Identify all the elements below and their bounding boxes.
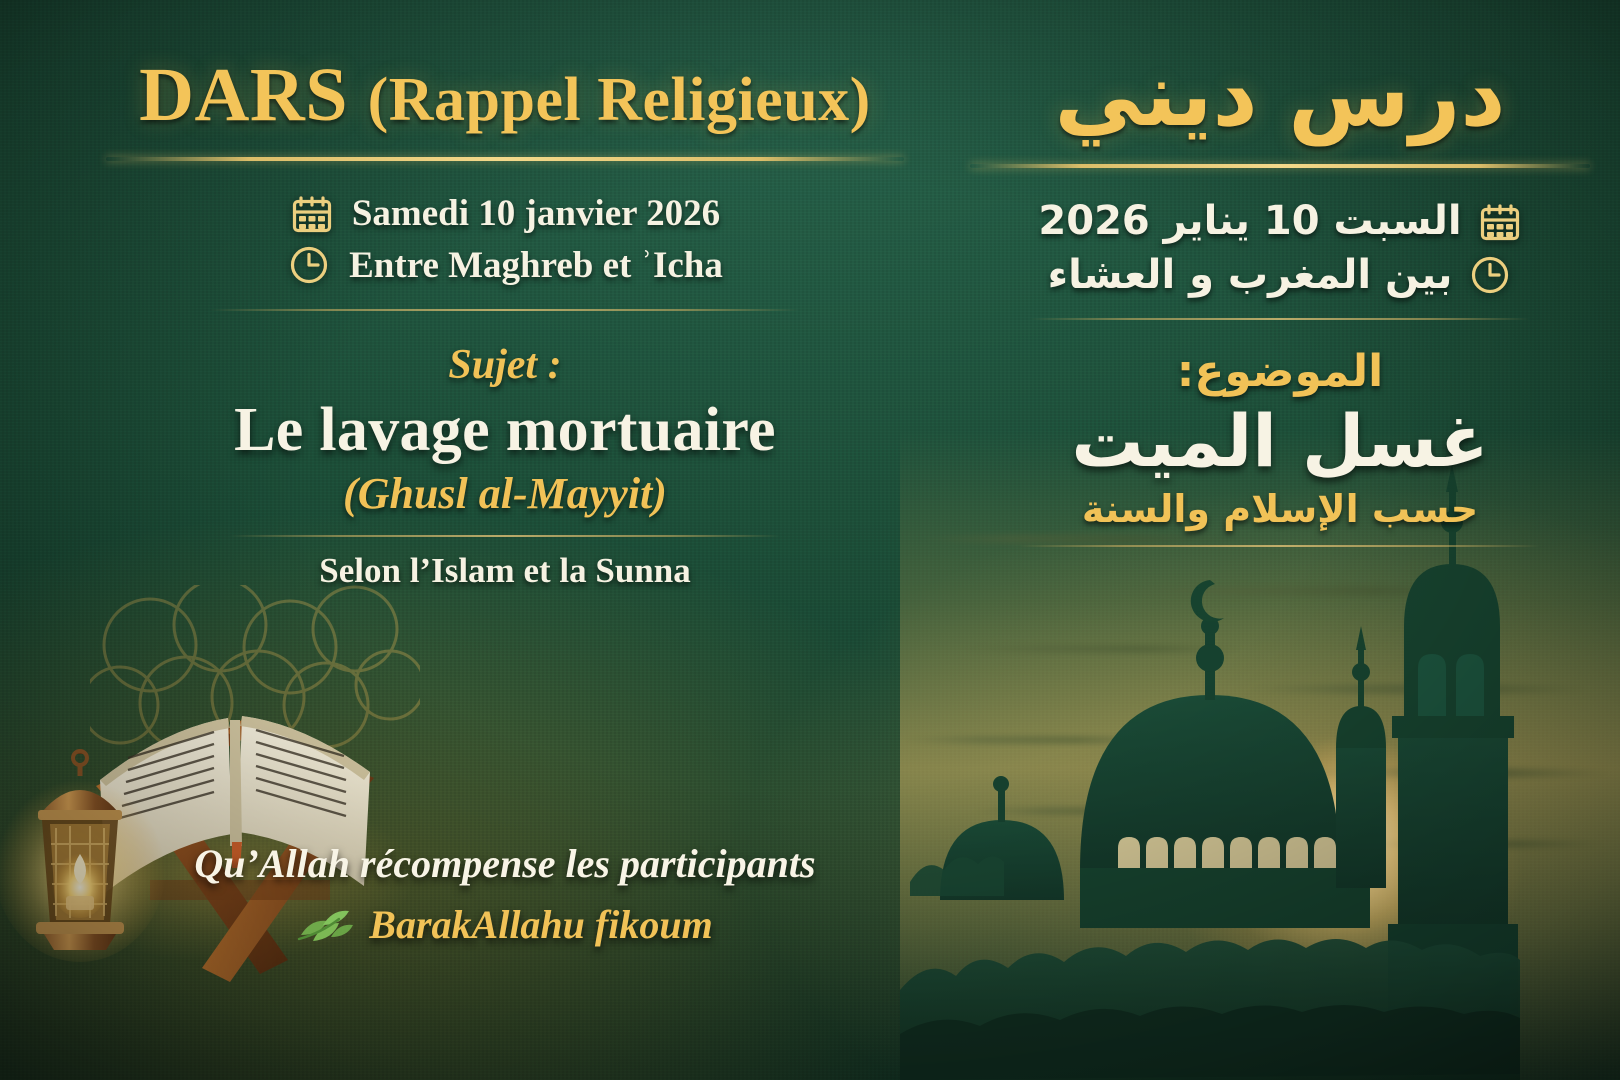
- french-time-text: Entre Maghreb et ʾIcha: [349, 244, 723, 287]
- title-paren-text: (Rappel Religieux): [368, 66, 871, 134]
- arabic-column: درس ديني: [960, 0, 1600, 547]
- divider-subject-arabic: [1020, 545, 1540, 547]
- french-meta-block: Samedi 10 janvier 2026 Entre Maghreb et …: [60, 191, 950, 287]
- page-title-french: DARS (Rappel Religieux): [60, 0, 950, 139]
- clock-icon: [287, 243, 331, 287]
- arabic-time-text: بين المغرب و العشاء: [1048, 252, 1453, 298]
- calendar-icon: [1478, 199, 1522, 243]
- page-title-arabic: درس ديني: [960, 0, 1600, 150]
- baraka-text: BarakAllahu fikoum: [369, 901, 712, 948]
- footer-block: Qu’Allah récompense les participants Bar…: [60, 840, 950, 948]
- arabic-date-row: السبت 10 يناير 2026: [960, 198, 1600, 244]
- french-time-row: Entre Maghreb et ʾIcha: [60, 243, 950, 287]
- french-date-text: Samedi 10 janvier 2026: [352, 192, 720, 235]
- leaf-sprig-icon: [297, 905, 355, 945]
- french-subject-transliteration: (Ghusl al-Mayyit): [60, 468, 950, 519]
- divider-meta-arabic: [1030, 318, 1530, 320]
- arabic-subject-label: الموضوع:: [960, 346, 1600, 397]
- dua-text: Qu’Allah récompense les participants: [60, 840, 950, 887]
- arabic-subject-main: غسل الميت: [960, 399, 1600, 483]
- divider-meta-french: [210, 309, 800, 311]
- arabic-meta-block: السبت 10 يناير 2026 بين المغرب و العشاء: [960, 198, 1600, 298]
- french-date-row: Samedi 10 janvier 2026: [60, 191, 950, 235]
- french-subject-label: Sujet :: [60, 341, 950, 389]
- baraka-line: BarakAllahu fikoum: [60, 901, 950, 948]
- arabic-time-row: بين المغرب و العشاء: [960, 252, 1600, 298]
- title-main-text: DARS: [139, 53, 348, 137]
- calendar-icon: [290, 191, 334, 235]
- clock-icon: [1468, 253, 1512, 297]
- divider-subject-french: [230, 535, 780, 537]
- divider-title-arabic: [970, 164, 1590, 168]
- arabic-subject-subtitle: حسب الإسلام والسنة: [960, 487, 1600, 531]
- arabic-date-text: السبت 10 يناير 2026: [1038, 198, 1461, 244]
- arabesque-pattern-icon: [90, 585, 420, 785]
- french-subject-main: Le lavage mortuaire: [60, 395, 950, 466]
- french-column: DARS (Rappel Religieux): [60, 0, 950, 591]
- poster-canvas: DARS (Rappel Religieux): [0, 0, 1620, 1080]
- divider-title-french: [106, 157, 904, 161]
- french-subject-subtitle: Selon l’Islam et la Sunna: [60, 551, 950, 591]
